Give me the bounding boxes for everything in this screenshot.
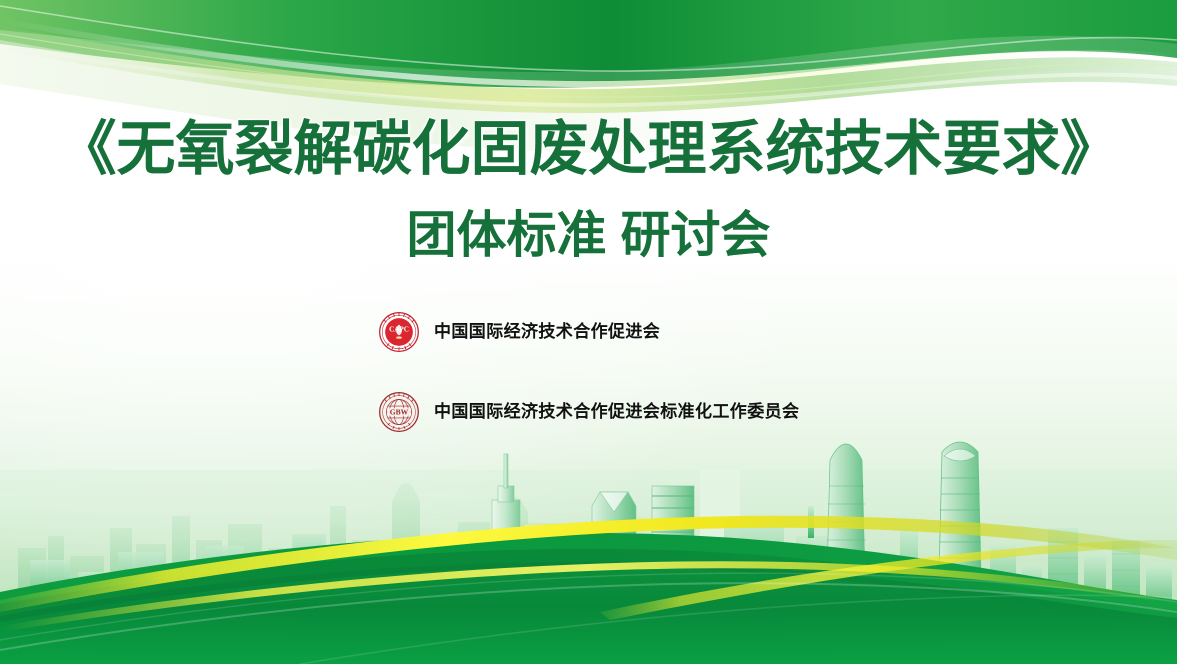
capc-seal-icon: CAPC — [378, 311, 420, 353]
organization-name: 中国国际经济技术合作促进会标准化工作委员会 — [434, 400, 799, 424]
gbw-seal-icon: GBW — [378, 391, 420, 433]
presentation-title-slide: 《无氧裂解碳化固废处理系统技术要求》 团体标准 研讨会 — [0, 0, 1177, 664]
page-title: 《无氧裂解碳化固废处理系统技术要求》 — [0, 113, 1177, 185]
organization-row: CAPC 中国国际经济技术合作促进会 — [378, 311, 660, 353]
gbw-seal-label: GBW — [390, 408, 409, 417]
organization-name: 中国国际经济技术合作促进会 — [434, 320, 660, 344]
organization-row: GBW 中国国际经济技术合作促进会标准化工作委员会 — [378, 391, 799, 433]
page-subtitle: 团体标准 研讨会 — [0, 203, 1177, 267]
capc-seal-label: CAPC — [389, 326, 409, 334]
